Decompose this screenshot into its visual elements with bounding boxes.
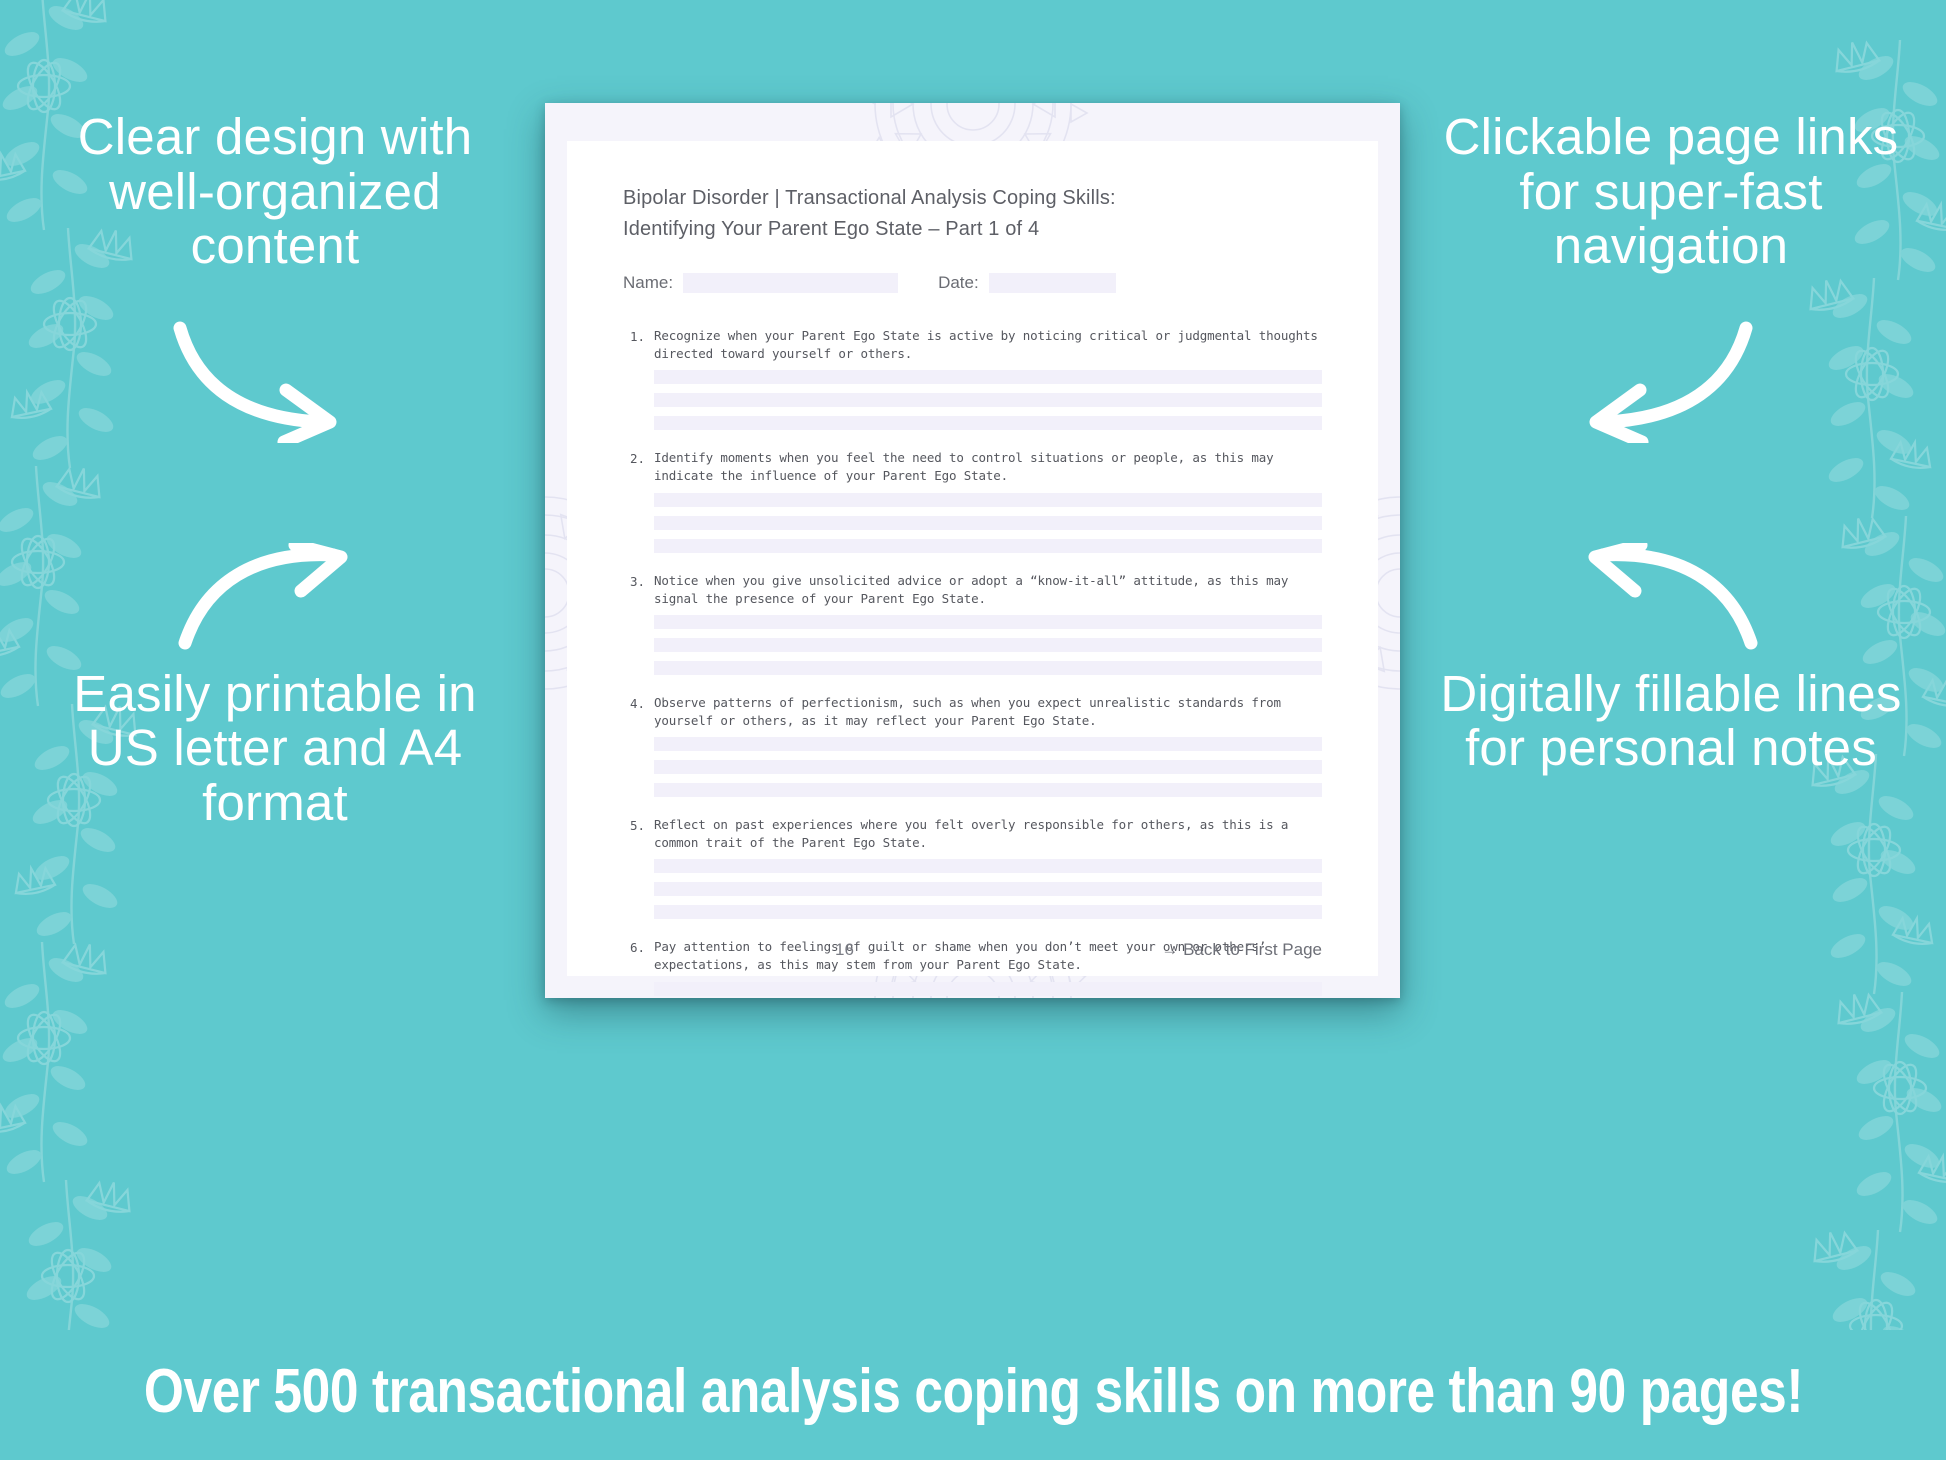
curved-arrow-right-up-icon <box>175 543 365 653</box>
date-label: Date: <box>938 273 979 293</box>
fillable-lines-group <box>654 859 1322 919</box>
worksheet-item: 4.Observe patterns of perfectionism, suc… <box>623 694 1322 797</box>
fillable-line[interactable] <box>654 783 1322 797</box>
banner-headline: Over 500 transactional analysis coping s… <box>143 1356 1802 1427</box>
promo-column-right: Clickable page links for super-fast navi… <box>1436 110 1906 776</box>
worksheet-item-body: Notice when you give unsolicited advice … <box>645 572 1322 675</box>
worksheet-item-text: Notice when you give unsolicited advice … <box>654 572 1322 608</box>
fillable-line[interactable] <box>654 661 1322 675</box>
meta-row: Name: Date: <box>623 273 1322 293</box>
curved-arrow-left-down-icon <box>1566 318 1756 443</box>
fillable-line[interactable] <box>654 539 1322 553</box>
worksheet-item-number: 5. <box>623 816 645 919</box>
worksheet-item-text: Identify moments when you feel the need … <box>654 449 1322 485</box>
worksheet-item-number: 3. <box>623 572 645 675</box>
fillable-lines-group <box>654 370 1322 430</box>
worksheet-page: Bipolar Disorder | Transactional Analysi… <box>545 103 1400 998</box>
fillable-line[interactable] <box>654 982 1322 996</box>
worksheet-item: 2.Identify moments when you feel the nee… <box>623 449 1322 552</box>
fillable-lines-group <box>654 982 1322 999</box>
fillable-line[interactable] <box>654 905 1322 919</box>
fillable-line[interactable] <box>654 737 1322 751</box>
fillable-line[interactable] <box>654 493 1322 507</box>
worksheet-item-text: Reflect on past experiences where you fe… <box>654 816 1322 852</box>
bottom-banner: Over 500 transactional analysis coping s… <box>0 1322 1946 1460</box>
page-title: Bipolar Disorder | Transactional Analysi… <box>623 183 1322 245</box>
doc-title-line1: Bipolar Disorder | Transactional Analysi… <box>623 183 1322 214</box>
worksheet-item-body: Observe patterns of perfectionism, such … <box>645 694 1322 797</box>
fillable-lines-group <box>654 615 1322 675</box>
worksheet-item-number: 2. <box>623 449 645 552</box>
fillable-lines-group <box>654 493 1322 553</box>
worksheet-item-text: Observe patterns of perfectionism, such … <box>654 694 1322 730</box>
promo-column-left: Clear design with well-organized content… <box>40 110 510 830</box>
worksheet-item-number: 1. <box>623 327 645 430</box>
worksheet-item-body: Identify moments when you feel the need … <box>645 449 1322 552</box>
page-content-area: Bipolar Disorder | Transactional Analysi… <box>567 141 1378 976</box>
worksheet-item-text: Recognize when your Parent Ego State is … <box>654 327 1322 363</box>
name-input[interactable] <box>683 273 898 293</box>
promo-text-clear-design: Clear design with well-organized content <box>40 110 510 274</box>
promo-text-clickable-links: Clickable page links for super-fast navi… <box>1436 110 1906 274</box>
promo-text-easily-printable: Easily printable in US letter and A4 for… <box>40 667 510 831</box>
fillable-line[interactable] <box>654 760 1322 774</box>
fillable-line[interactable] <box>654 882 1322 896</box>
promo-text-digitally-fillable: Digitally fillable lines for personal no… <box>1436 667 1906 776</box>
worksheet-item-body: Reflect on past experiences where you fe… <box>645 816 1322 919</box>
name-label: Name: <box>623 273 673 293</box>
fillable-line[interactable] <box>654 638 1322 652</box>
curved-arrow-right-down-icon <box>170 318 360 443</box>
fillable-lines-group <box>654 737 1322 797</box>
worksheet-item: 1.Recognize when your Parent Ego State i… <box>623 327 1322 430</box>
fillable-line[interactable] <box>654 416 1322 430</box>
fillable-line[interactable] <box>654 393 1322 407</box>
page-footer: 16 → Back to First Page <box>623 940 1322 960</box>
curved-arrow-left-up-icon <box>1571 543 1761 653</box>
date-input[interactable] <box>989 273 1116 293</box>
fillable-line[interactable] <box>654 516 1322 530</box>
back-to-first-page-link[interactable]: → Back to First Page <box>1161 940 1322 960</box>
worksheet-item-number: 4. <box>623 694 645 797</box>
worksheet-item: 5.Reflect on past experiences where you … <box>623 816 1322 919</box>
worksheet-item: 3.Notice when you give unsolicited advic… <box>623 572 1322 675</box>
worksheet-items-list: 1.Recognize when your Parent Ego State i… <box>623 327 1322 998</box>
page-outer-margin: Bipolar Disorder | Transactional Analysi… <box>545 103 1400 998</box>
doc-title-line2: Identifying Your Parent Ego State – Part… <box>623 214 1322 245</box>
fillable-line[interactable] <box>654 615 1322 629</box>
fillable-line[interactable] <box>654 370 1322 384</box>
page-number: 16 <box>835 940 854 960</box>
fillable-line[interactable] <box>654 859 1322 873</box>
worksheet-item-body: Recognize when your Parent Ego State is … <box>645 327 1322 430</box>
